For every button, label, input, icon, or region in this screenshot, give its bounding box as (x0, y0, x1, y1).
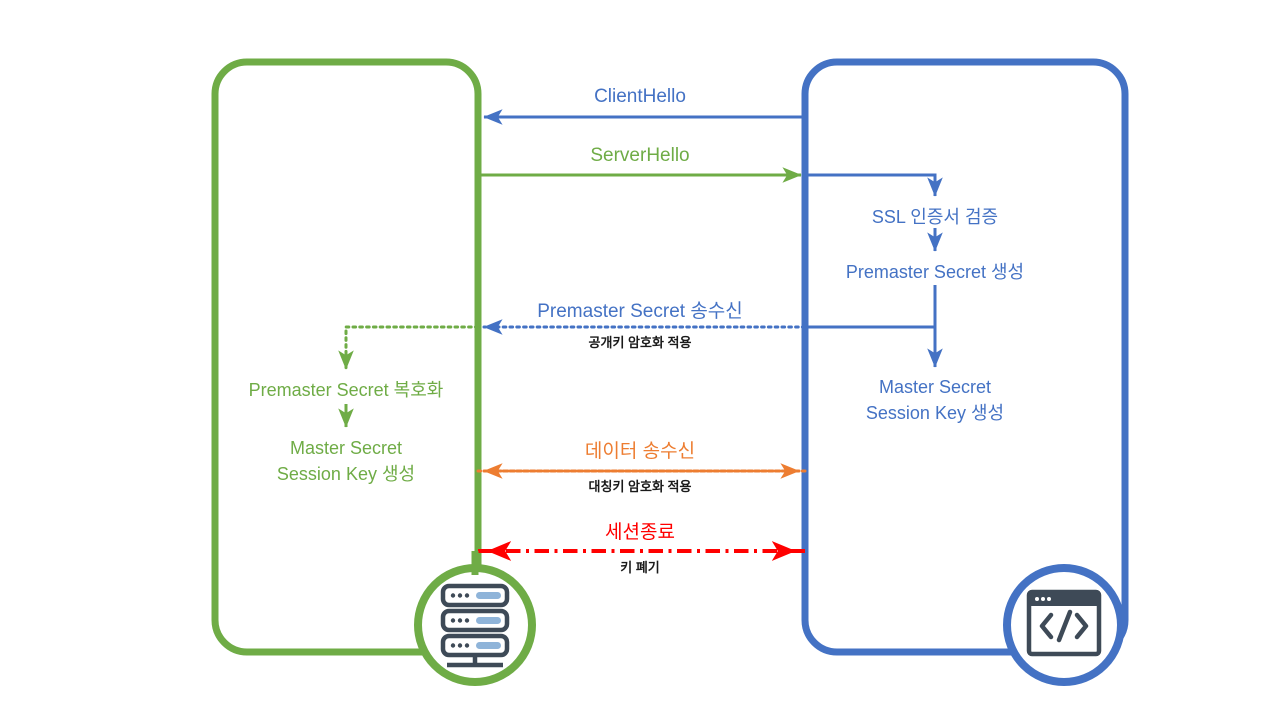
client-lane-box (805, 62, 1125, 652)
browser-code-icon (1007, 568, 1121, 682)
server-flow-to-premaster-decrypt (346, 327, 478, 427)
client-flow-to-cert-verify (805, 175, 935, 367)
server-icon (418, 551, 532, 682)
diagram-canvas (0, 0, 1280, 720)
diagram-stage: ClientHello ServerHello Premaster Secret… (0, 0, 1280, 720)
